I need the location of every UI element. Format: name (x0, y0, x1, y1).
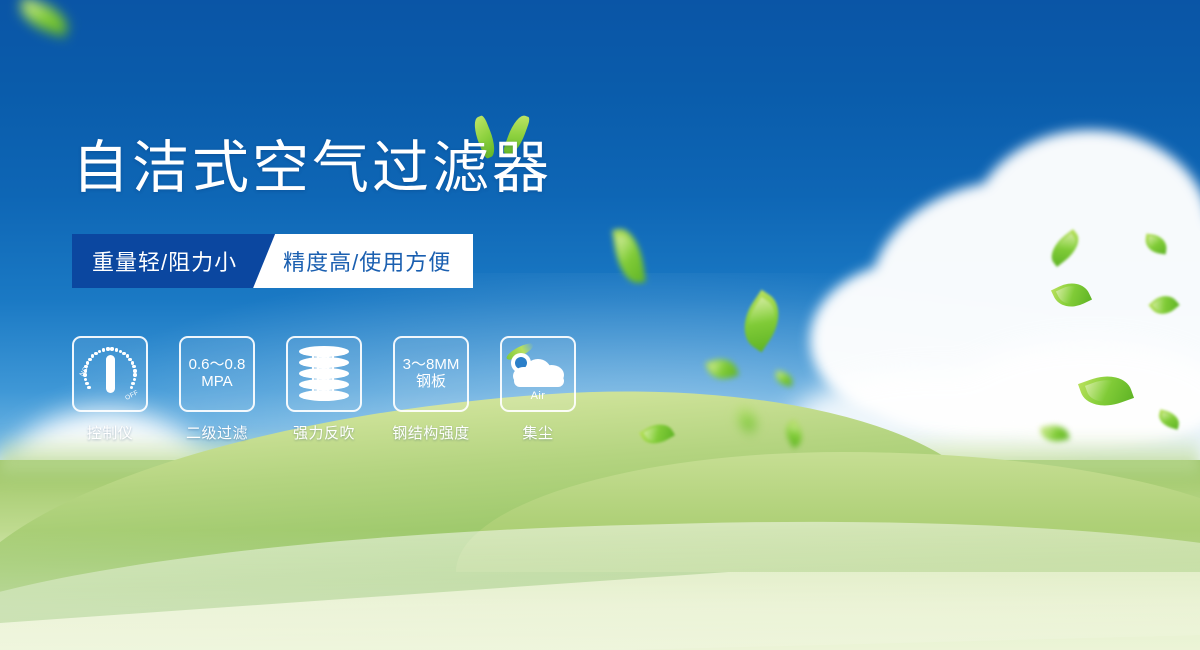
gauge-icon: NO OFF (79, 343, 141, 405)
gauge-needle (106, 355, 115, 393)
feature-icon-box: Air (500, 336, 576, 412)
filter-cartridge-icon (299, 346, 349, 402)
air-caption: Air (509, 390, 567, 402)
feature-item-steel-strength[interactable]: 3～8MM 钢板 钢结构强度 (393, 336, 469, 443)
steel-line-1: 3～8MM (403, 357, 460, 374)
pressure-line-1: 0.6～0.8 (189, 357, 246, 374)
feature-icon-box (286, 336, 362, 412)
feature-label: 钢结构强度 (392, 422, 470, 443)
feature-item-pulse-blowback[interactable]: 强力反吹 (286, 336, 362, 443)
feature-icon-box: NO OFF (72, 336, 148, 412)
page-title: 自洁式空气过滤器 (72, 140, 552, 197)
tagline-primary: 重量轻/阻力小 (72, 234, 275, 288)
grass-field (0, 460, 1200, 650)
feature-item-two-stage-filter[interactable]: 0.6～0.8 MPA 二级过滤 (179, 336, 255, 443)
grass-sheen (0, 530, 1200, 650)
feature-icon-box: 0.6～0.8 MPA (179, 336, 255, 412)
feature-list: NO OFF 控制仪 0.6～0.8 MPA 二级过滤 (72, 336, 576, 443)
tagline-secondary: 精度高/使用方便 (253, 234, 473, 288)
feature-item-controller[interactable]: NO OFF 控制仪 (72, 336, 148, 443)
tagline-bar: 重量轻/阻力小 精度高/使用方便 (72, 234, 473, 288)
steel-line-2: 钢板 (403, 374, 460, 391)
feature-icon-box: 3～8MM 钢板 (393, 336, 469, 412)
steel-plate-text-icon: 3～8MM 钢板 (403, 357, 460, 391)
feature-label: 强力反吹 (293, 422, 355, 443)
product-hero-banner: 自洁式空气过滤器 重量轻/阻力小 精度高/使用方便 NO OFF 控制仪 0.6… (0, 0, 1200, 650)
feature-item-dust-collection[interactable]: Air 集尘 (500, 336, 576, 443)
pressure-text-icon: 0.6～0.8 MPA (189, 357, 246, 391)
pressure-line-2: MPA (189, 374, 246, 391)
feature-label: 二级过滤 (186, 422, 248, 443)
feature-label: 控制仪 (87, 422, 134, 443)
feature-label: 集尘 (522, 422, 553, 443)
cloud-sun-air-icon: Air (509, 349, 567, 399)
